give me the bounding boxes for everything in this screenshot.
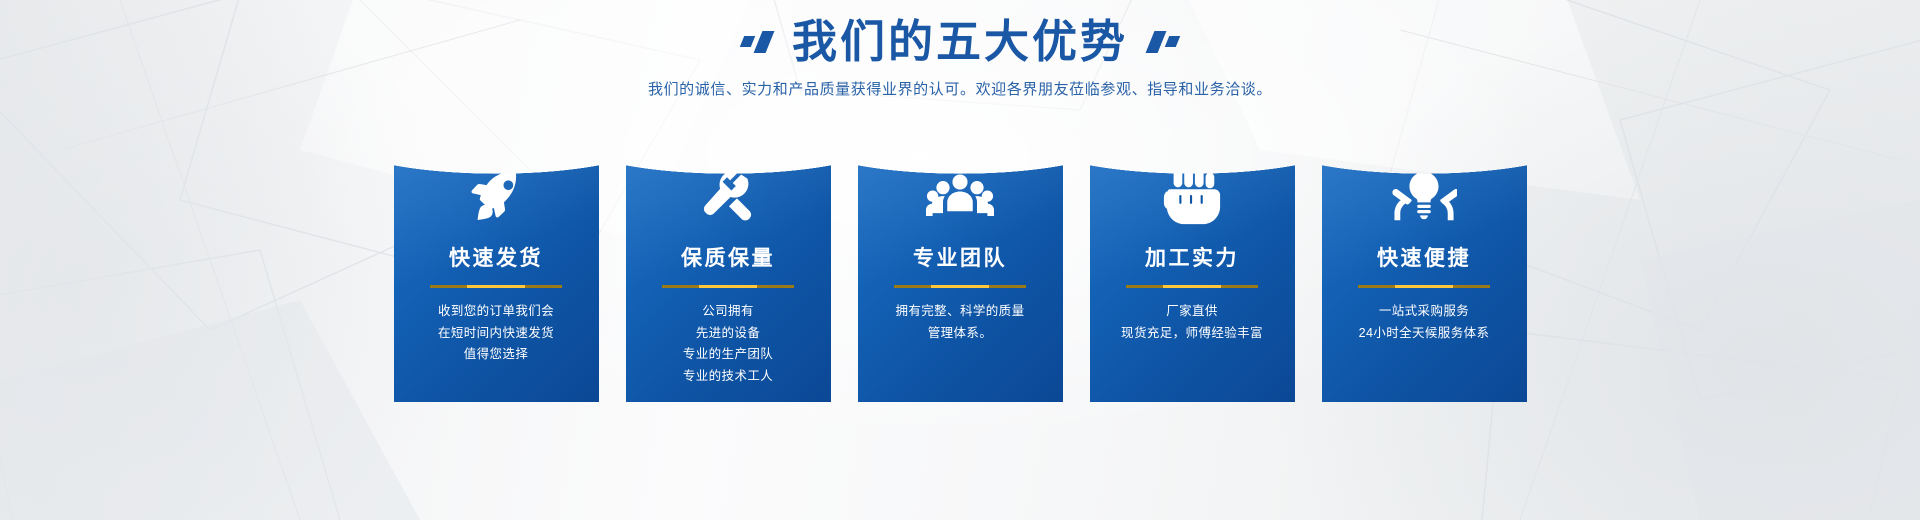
- page-title: 我们的五大优势: [792, 18, 1128, 65]
- card-body-line: 先进的设备: [626, 323, 831, 345]
- card-body-line: 在短时间内快速发货: [394, 323, 599, 345]
- advantage-card-title: 快速便捷: [1322, 242, 1527, 272]
- card-divider: [1126, 285, 1258, 288]
- card-body-line: 值得您选择: [394, 344, 599, 366]
- card-body-line: 收到您的订单我们会: [394, 301, 599, 323]
- page-subtitle: 我们的诚信、实力和产品质量获得业界的认可。欢迎各界朋友莅临参观、指导和业务洽谈。: [0, 78, 1920, 99]
- advantage-card-title: 快速发货: [394, 242, 599, 272]
- advantage-card-body: 公司拥有 先进的设备 专业的生产团队 专业的技术工人: [626, 301, 831, 387]
- card-divider: [894, 285, 1026, 288]
- advantage-card-5[interactable]: 快速便捷 一站式采购服务 24小时全天候服务体系: [1322, 140, 1527, 402]
- team-icon: [858, 140, 1063, 232]
- advantage-card-4[interactable]: 加工实力 厂家直供 现货充足，师傅经验丰富: [1090, 140, 1295, 402]
- advantages-card-list: 快速发货 收到您的订单我们会 在短时间内快速发货 值得您选择 保质保量 公司拥有…: [0, 140, 1920, 402]
- tools-icon: [626, 140, 831, 232]
- advantage-card-3[interactable]: 专业团队 拥有完整、科学的质量 管理体系。: [858, 140, 1063, 402]
- card-body-line: 一站式采购服务: [1322, 301, 1527, 323]
- fist-icon: [1090, 140, 1295, 232]
- card-body-line: 24小时全天候服务体系: [1322, 323, 1527, 345]
- card-body-line: 专业的技术工人: [626, 366, 831, 388]
- card-body-line: 拥有完整、科学的质量: [858, 301, 1063, 323]
- card-divider: [1358, 285, 1490, 288]
- advantage-card-title: 专业团队: [858, 242, 1063, 272]
- advantage-card-2[interactable]: 保质保量 公司拥有 先进的设备 专业的生产团队 专业的技术工人: [626, 140, 831, 402]
- advantage-card-body: 厂家直供 现货充足，师傅经验丰富: [1090, 301, 1295, 344]
- advantage-card-title: 加工实力: [1090, 242, 1295, 272]
- title-decoration-right-icon: [1150, 31, 1178, 53]
- section-header: 我们的五大优势 我们的诚信、实力和产品质量获得业界的认可。欢迎各界朋友莅临参观、…: [0, 0, 1920, 99]
- rocket-icon: [394, 140, 599, 232]
- card-body-line: 专业的生产团队: [626, 344, 831, 366]
- advantage-card-body: 一站式采购服务 24小时全天候服务体系: [1322, 301, 1527, 344]
- idea-hands-icon: [1322, 140, 1527, 232]
- card-body-line: 公司拥有: [626, 301, 831, 323]
- title-row: 我们的五大优势: [0, 0, 1920, 65]
- card-body-line: 管理体系。: [858, 323, 1063, 345]
- card-divider: [430, 285, 562, 288]
- advantage-card-title: 保质保量: [626, 242, 831, 272]
- title-decoration-left-icon: [742, 31, 770, 53]
- card-divider: [662, 285, 794, 288]
- advantage-card-1[interactable]: 快速发货 收到您的订单我们会 在短时间内快速发货 值得您选择: [394, 140, 599, 402]
- card-body-line: 厂家直供: [1090, 301, 1295, 323]
- advantage-card-body: 收到您的订单我们会 在短时间内快速发货 值得您选择: [394, 301, 599, 366]
- advantage-card-body: 拥有完整、科学的质量 管理体系。: [858, 301, 1063, 344]
- card-body-line: 现货充足，师傅经验丰富: [1090, 323, 1295, 345]
